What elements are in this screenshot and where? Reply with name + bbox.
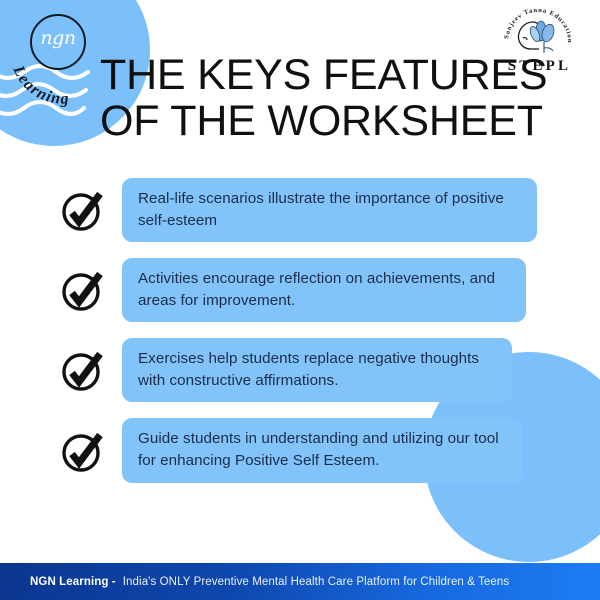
list-item: Activities encourage reflection on achie… (58, 258, 550, 322)
check-circle-icon (58, 186, 106, 234)
footer-tagline: India's ONLY Preventive Mental Health Ca… (123, 576, 510, 588)
poster-canvas: ngn Learning Sanjeev Tanna Education (0, 0, 600, 600)
list-item: Guide students in understanding and util… (58, 418, 550, 482)
feature-list: Real-life scenarios illustrate the impor… (58, 178, 550, 499)
page-title: THE KEYS FEATURES OF THE WORKSHEET (100, 52, 570, 145)
feature-pill: Activities encourage reflection on achie… (122, 258, 526, 322)
check-circle-icon (58, 346, 106, 394)
footer-bar: NGN Learning - India's ONLY Preventive M… (0, 563, 600, 600)
page-title-line-2: OF THE WORKSHEET (100, 98, 570, 144)
list-item: Exercises help students replace negative… (58, 338, 550, 402)
page-title-line-1: THE KEYS FEATURES (100, 52, 570, 98)
check-circle-icon (58, 266, 106, 314)
footer-brand: NGN Learning - (30, 576, 116, 588)
feature-pill: Guide students in understanding and util… (122, 418, 522, 482)
check-circle-icon (58, 427, 106, 475)
feature-pill: Exercises help students replace negative… (122, 338, 512, 402)
svg-text:Learning: Learning (9, 62, 70, 108)
feature-pill: Real-life scenarios illustrate the impor… (122, 178, 537, 242)
list-item: Real-life scenarios illustrate the impor… (58, 178, 550, 242)
